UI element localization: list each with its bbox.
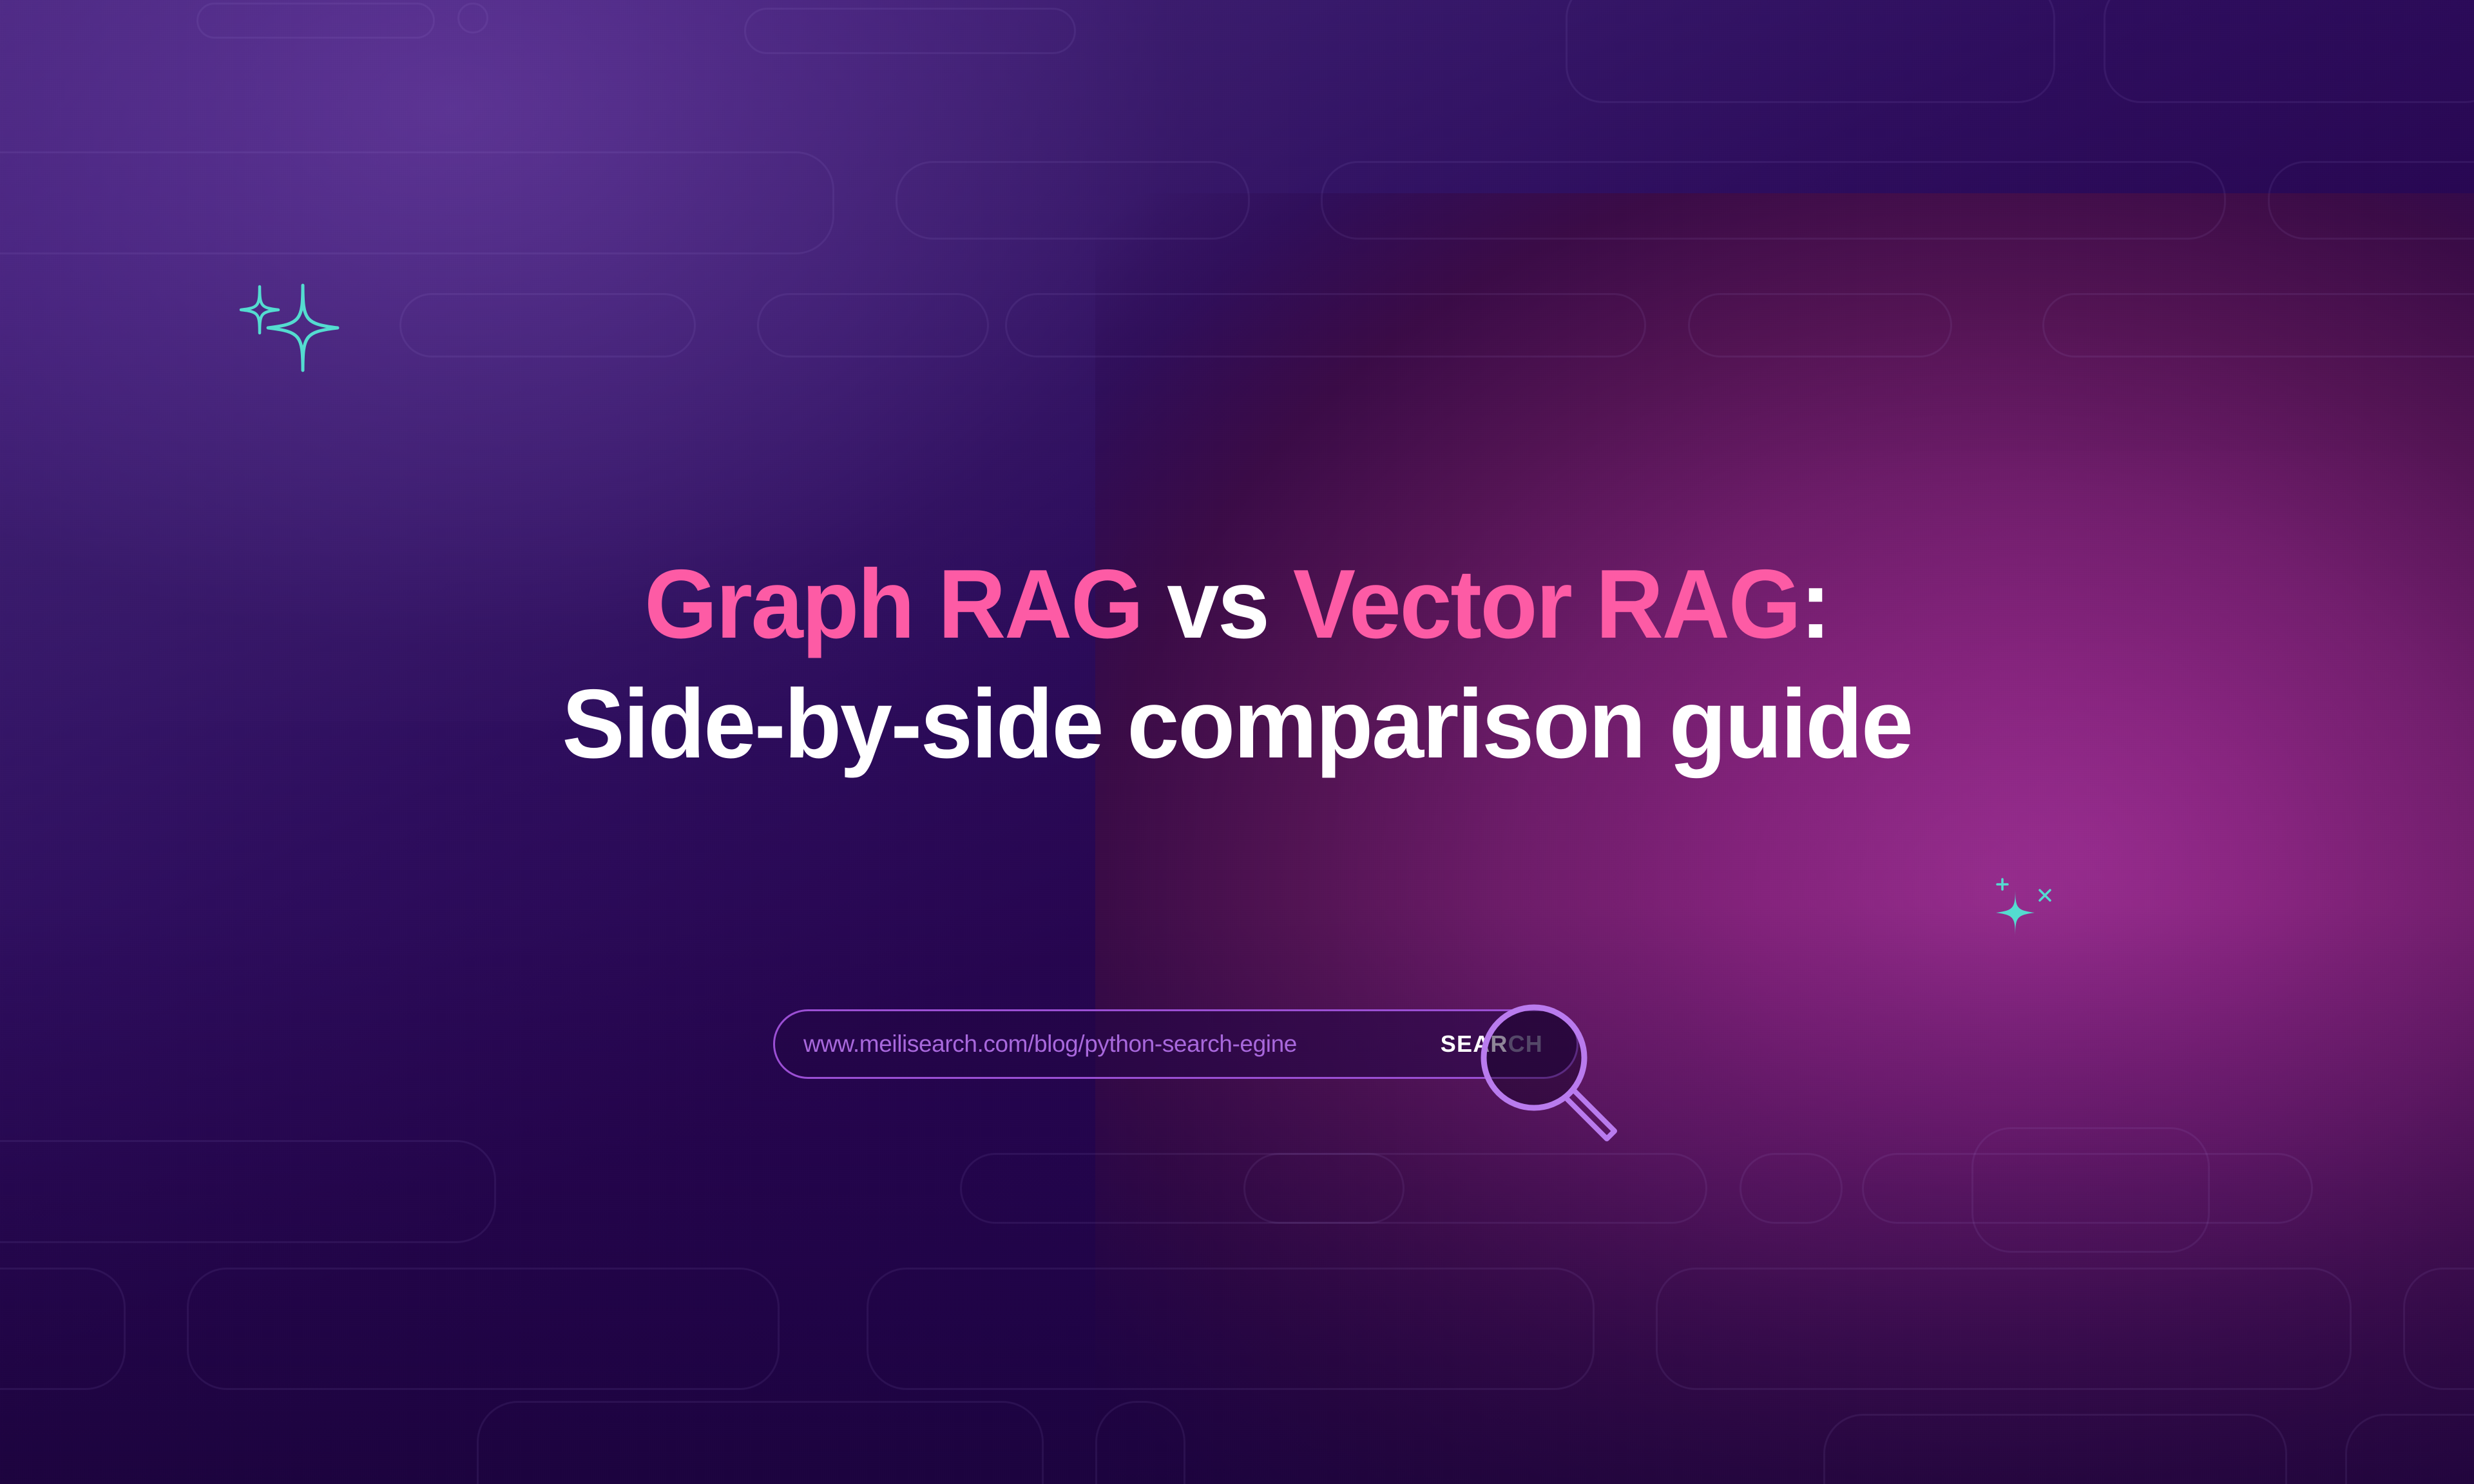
decorative-pill [757, 293, 989, 357]
decorative-pill [2104, 0, 2474, 103]
title-vector-rag: Vector RAG [1293, 549, 1800, 659]
title-colon: : [1800, 549, 1830, 659]
decorative-pill [399, 293, 696, 357]
decorative-pill [1823, 1414, 2287, 1484]
decorative-pill [2403, 1268, 2474, 1390]
decorative-pill [896, 161, 1250, 240]
decorative-pill [187, 1268, 780, 1390]
decorative-pill [197, 3, 435, 39]
decorative-pill [477, 1401, 1044, 1484]
decorative-pill [1566, 0, 2055, 103]
decorative-pill [744, 8, 1076, 54]
title-vs: vs [1142, 549, 1293, 659]
search-input-field[interactable]: www.meilisearch.com/blog/python-search-e… [773, 1009, 1578, 1079]
hero-banner: Graph RAG vs Vector RAG: Side-by-side co… [0, 0, 2474, 1484]
search-input[interactable]: www.meilisearch.com/blog/python-search-e… [803, 1031, 1441, 1058]
decorative-pill [0, 1268, 126, 1390]
decorative-pill [1005, 293, 1646, 357]
decorative-pill [1971, 1127, 2210, 1253]
decorative-pill [867, 1268, 1595, 1390]
decorative-pill [1740, 1153, 1843, 1224]
sparkle-icon [227, 274, 343, 393]
title-graph-rag: Graph RAG [644, 549, 1142, 659]
decorative-pill [1656, 1268, 2352, 1390]
decorative-pill [0, 151, 834, 254]
decorative-pill [2345, 1414, 2474, 1484]
title-line-1: Graph RAG vs Vector RAG: [50, 544, 2424, 664]
decorative-pill [1321, 161, 2226, 240]
decorative-pill [2268, 161, 2474, 240]
page-title: Graph RAG vs Vector RAG: Side-by-side co… [0, 544, 2474, 784]
close-icon [2040, 890, 2050, 900]
decorative-pill [1095, 1401, 1185, 1484]
search-button-label-visible: SEAR [1441, 1031, 1508, 1057]
sparkle-icon [1978, 875, 2062, 952]
search-button[interactable]: SEARCH [1441, 1031, 1548, 1058]
decorative-pill [1688, 293, 1952, 357]
title-line-2: Side-by-side comparison guide [50, 664, 2424, 784]
decorative-pill [1243, 1153, 1707, 1224]
decorative-pill [0, 1140, 496, 1243]
search-bar[interactable]: www.meilisearch.com/blog/python-search-e… [773, 1009, 1578, 1079]
search-button-label-dimmed: CH [1508, 1031, 1543, 1057]
decorative-pill [2042, 293, 2474, 357]
decorative-pill [457, 3, 488, 33]
